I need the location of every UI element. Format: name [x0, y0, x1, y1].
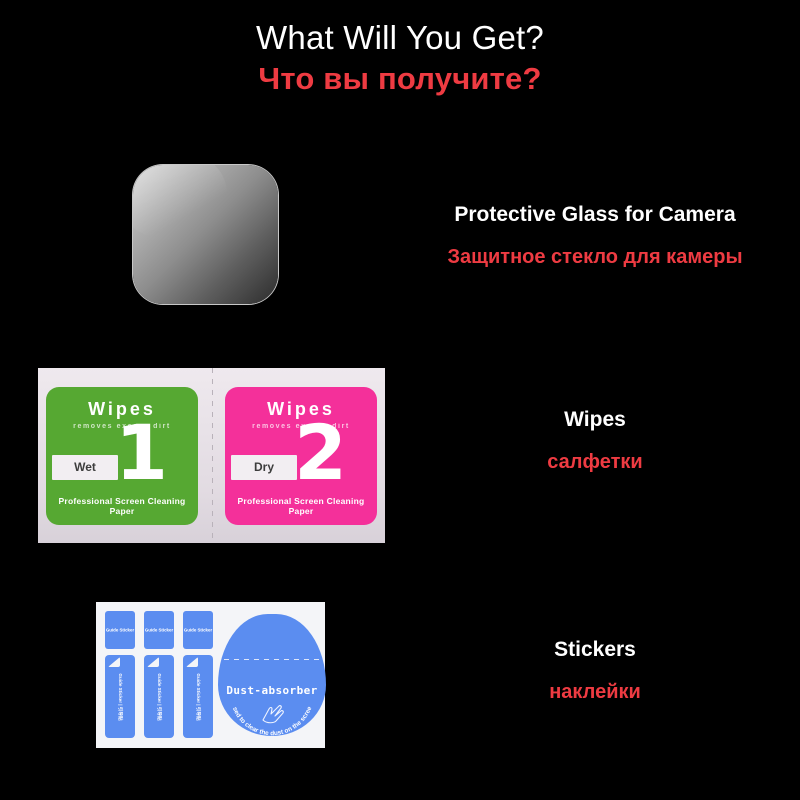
dust-absorber-sticker: Dust-absorber Used to clear the dust on …	[218, 614, 326, 736]
protective-glass-label-ru: Защитное стекло для камеры	[400, 242, 790, 272]
guide-sticker-body-label: Guide Sticker | 引导贴	[195, 673, 201, 720]
guide-sticker-body-label: Guide Sticker | 引导贴	[117, 673, 123, 720]
guide-sticker-body: Guide Sticker | 引导贴	[144, 655, 174, 738]
guide-sticker-head-label: Guide Sticker	[184, 628, 212, 633]
guide-sticker-strip: Guide Sticker Guide Sticker | 引导贴	[105, 611, 135, 738]
wet-wipe-number: 1	[115, 415, 168, 491]
perforation-line	[212, 368, 213, 543]
dry-wipe-number: 2	[294, 415, 347, 491]
peel-corner-icon	[108, 657, 120, 667]
guide-sticker-head: Guide Sticker	[105, 611, 135, 649]
guide-sticker-strip: Guide Sticker Guide Sticker | 引导贴	[144, 611, 174, 738]
guide-sticker-body: Guide Sticker | 引导贴	[183, 655, 213, 738]
protective-glass-label-en: Protective Glass for Camera	[400, 200, 790, 230]
peel-corner-icon	[186, 657, 198, 667]
guide-sticker-head-label: Guide Sticker	[106, 628, 134, 633]
stickers-label: Stickers наклейки	[470, 635, 720, 707]
wet-wipe-sachet: Wipes removes excess dirt 1 Wet Professi…	[46, 387, 198, 525]
guide-sticker-body: Guide Sticker | 引导贴	[105, 655, 135, 738]
wipes-label-ru: салфетки	[470, 447, 720, 477]
protective-glass-label: Protective Glass for Camera Защитное сте…	[400, 200, 790, 272]
stickers-label-en: Stickers	[470, 635, 720, 665]
wipes-label-en: Wipes	[470, 405, 720, 435]
hand-wiping-icon	[259, 702, 285, 724]
protective-glass-photo	[133, 165, 278, 304]
wet-wipe-footer: Professional Screen Cleaning Paper	[46, 496, 198, 516]
guide-sticker-strip: Guide Sticker Guide Sticker | 引导贴	[183, 611, 213, 738]
stickers-label-ru: наклейки	[470, 677, 720, 707]
guide-sticker-head-label: Guide Sticker	[145, 628, 173, 633]
glass-gloss-highlight	[133, 165, 227, 237]
peel-corner-icon	[147, 657, 159, 667]
stickers-photo: Guide Sticker Guide Sticker | 引导贴 Guide …	[96, 602, 325, 748]
guide-sticker-head: Guide Sticker	[144, 611, 174, 649]
page-title-en: What Will You Get?	[0, 18, 800, 58]
dry-wipe-footer: Professional Screen Cleaning Paper	[225, 496, 377, 516]
guide-sticker-body-label: Guide Sticker | 引导贴	[156, 673, 162, 720]
page-header: What Will You Get? Что вы получите?	[0, 18, 800, 100]
wipes-label: Wipes салфетки	[470, 405, 720, 477]
page-title-ru: Что вы получите?	[0, 58, 800, 100]
dry-wipe-sachet: Wipes removes excess dirt 2 Dry Professi…	[225, 387, 377, 525]
wet-wipe-tag: Wet	[52, 455, 118, 480]
dry-wipe-tag: Dry	[231, 455, 297, 480]
wipes-photo: Wipes removes excess dirt 1 Wet Professi…	[38, 368, 385, 543]
guide-sticker-head: Guide Sticker	[183, 611, 213, 649]
